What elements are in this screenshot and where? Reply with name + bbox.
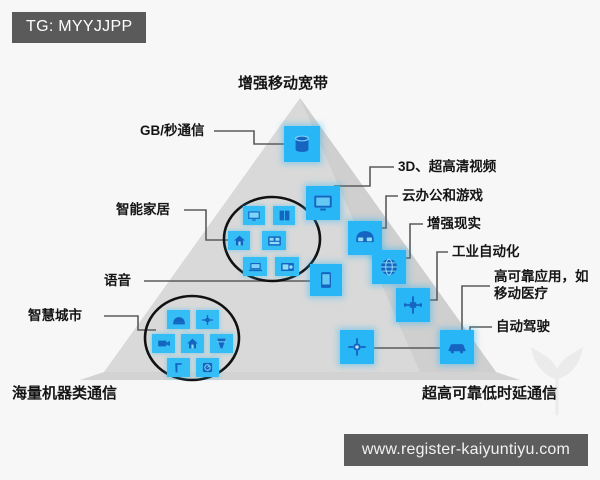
label-smart-home: 智能家居 [116, 202, 170, 219]
monitor-screen-icon[interactable] [306, 186, 340, 220]
car-icon[interactable] [440, 330, 474, 364]
speaker-icon[interactable] [275, 257, 299, 276]
label-smart-city: 智慧城市 [28, 308, 82, 325]
traffic-hub-icon[interactable] [196, 310, 219, 329]
site-watermark: www.register-kaiyuntiyu.com [344, 434, 588, 466]
camera-icon[interactable] [152, 334, 175, 353]
database-cylinder-icon[interactable] [284, 126, 320, 162]
globe-ar-icon[interactable] [372, 250, 406, 284]
label-voice: 语音 [104, 273, 131, 290]
street-lamp-icon[interactable] [167, 358, 190, 377]
label-3d-uhd-video: 3D、超高清视频 [398, 159, 496, 176]
bridge-icon[interactable] [167, 310, 190, 329]
label-base-mmtc: 海量机器类通信 [12, 382, 117, 403]
house-icon[interactable] [181, 334, 204, 353]
meter-icon[interactable] [196, 358, 219, 377]
home-icon[interactable] [228, 231, 250, 250]
label-cloud-office-gaming: 云办公和游戏 [402, 188, 483, 205]
tg-badge: TG: MYYJJPP [12, 12, 146, 43]
diagram-canvas: 增强移动宽带 海量机器类通信 超高可靠低时延通信 GB/秒通信 智能家居 语音 … [0, 0, 600, 480]
mobile-phone-icon[interactable] [310, 264, 342, 296]
appliance-icon[interactable] [262, 231, 286, 250]
book-icon[interactable] [273, 206, 295, 225]
tv-icon[interactable] [243, 206, 265, 225]
label-mission-critical: 高可靠应用，如移动医疗 [494, 269, 598, 303]
label-industrial-automation: 工业自动化 [452, 244, 520, 261]
label-apex-embb: 增强移动宽带 [238, 72, 328, 93]
antenna-tower-icon[interactable] [210, 334, 233, 353]
robot-arm-icon[interactable] [396, 288, 430, 322]
laptop-icon[interactable] [243, 257, 267, 276]
label-autonomous-driving: 自动驾驶 [496, 319, 550, 336]
label-gb-per-second: GB/秒通信 [140, 123, 205, 140]
label-augmented-reality: 增强现实 [427, 216, 481, 233]
label-base-urllc: 超高可靠低时延通信 [422, 382, 557, 403]
network-node-icon[interactable] [340, 330, 374, 364]
